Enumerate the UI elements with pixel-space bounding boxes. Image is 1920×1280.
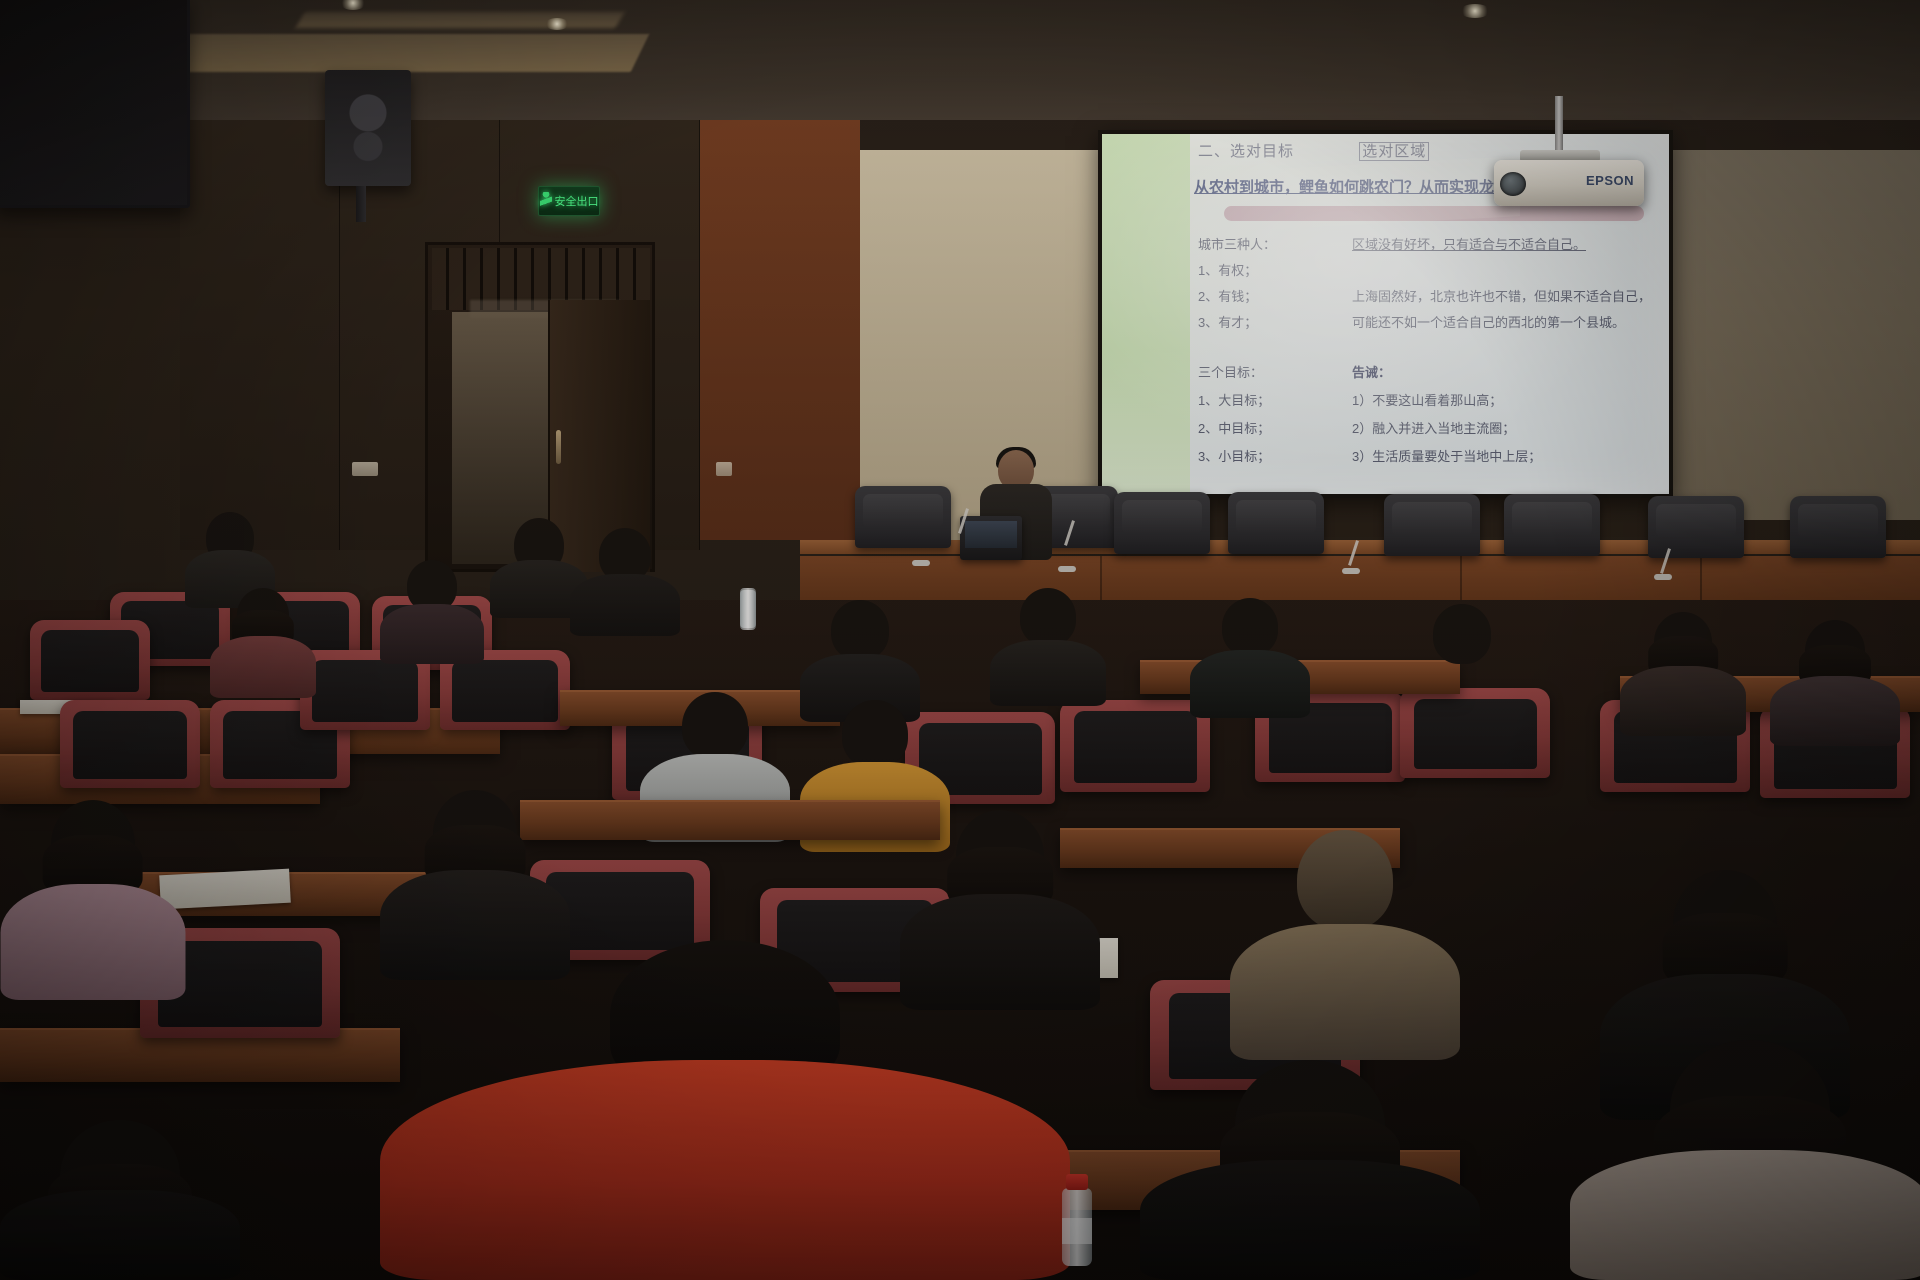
exit-sign-label: 安全出口	[555, 193, 599, 209]
slide-section1-note-3: 可能还不如一个适合自己的西北的第一个县城。	[1352, 312, 1625, 331]
audience-member	[1400, 604, 1524, 726]
audience-torso	[990, 640, 1106, 706]
audience-head	[1433, 604, 1491, 664]
audience-member	[210, 588, 316, 698]
slide-title-part1: 二、选对目标	[1198, 143, 1294, 160]
stage-chair[interactable]	[1648, 496, 1744, 558]
audience-torso	[1770, 676, 1900, 746]
audience-member	[1770, 620, 1900, 746]
slide-title-part2: 选对区域	[1359, 142, 1429, 161]
slide-section2-note-1: 1）不要这山看着那山高；	[1352, 390, 1502, 409]
audience-member	[570, 528, 680, 636]
ceiling-projector: EPSON	[1494, 160, 1644, 206]
audience-head	[1654, 612, 1712, 672]
audience-torso	[1190, 650, 1310, 718]
stage-chair[interactable]	[1384, 494, 1480, 556]
slide-section2-note-3: 3）生活质量要处于当地中上层；	[1352, 446, 1541, 465]
water-bottle[interactable]	[1062, 1188, 1092, 1266]
projector-ceiling-pole	[1555, 96, 1563, 156]
audience-head	[51, 800, 135, 888]
stage-chair[interactable]	[1790, 496, 1886, 558]
slide-section1-note-1: 区域没有好坏，只有适合与不适合自己。	[1352, 234, 1586, 253]
audience-torso	[210, 636, 316, 698]
audience-head	[842, 700, 908, 768]
audience-member-red-coat	[380, 940, 1070, 1280]
slide-section1-item-1: 1、有权；	[1198, 260, 1257, 279]
water-bottle[interactable]	[740, 590, 756, 630]
projector-brand-label: EPSON	[1586, 173, 1634, 188]
audience-desk	[520, 800, 940, 840]
slide-section2-right-label: 告诫：	[1352, 362, 1391, 381]
wall-wood-column	[700, 120, 860, 540]
slide-section2-note-2: 2）融入并进入当地主流圈；	[1352, 418, 1515, 437]
audience-torso	[1620, 666, 1746, 736]
audience-seat[interactable]	[1060, 700, 1210, 792]
stage-chair[interactable]	[1228, 492, 1324, 554]
presenter-laptop[interactable]	[960, 516, 1022, 560]
running-person-icon	[540, 192, 552, 210]
audience-torso	[0, 884, 185, 1000]
audience-head	[1020, 588, 1076, 646]
slide-section1-note-1-text: 区域没有好坏，只有适合与不适合自己。	[1352, 237, 1586, 252]
slide-section2-item-1: 1、大目标；	[1198, 390, 1270, 409]
wall-light-panel	[1673, 150, 1920, 520]
audience-member	[990, 588, 1106, 706]
audience-torso	[1230, 924, 1460, 1060]
microphone-base	[1058, 566, 1076, 572]
audience-torso	[0, 1190, 240, 1280]
audience-head	[237, 588, 289, 642]
ceiling-downlight	[1460, 4, 1490, 18]
audience-head	[956, 810, 1044, 902]
audience-member	[0, 1120, 240, 1280]
microphone-base	[912, 560, 930, 566]
audience-member	[0, 800, 185, 1000]
audience-member	[1190, 598, 1310, 718]
slide-section2-label: 三个目标：	[1198, 362, 1263, 381]
stage-chair[interactable]	[1504, 494, 1600, 556]
ceiling-speaker	[325, 70, 411, 186]
audience-member	[1140, 1060, 1480, 1280]
stage-chair[interactable]	[1114, 492, 1210, 554]
ceiling-cove-light	[161, 34, 650, 72]
audience-torso	[1140, 1160, 1480, 1280]
audience-head	[831, 600, 889, 660]
audience-head	[682, 692, 748, 760]
slide-section1-label: 城市三种人：	[1198, 234, 1276, 253]
slide-section1-item-3: 3、有才；	[1198, 312, 1257, 331]
microphone-base	[1342, 568, 1360, 574]
bottle-cap	[1066, 1174, 1088, 1190]
slide-divider-bar	[1224, 206, 1644, 221]
audience-seat[interactable]	[60, 700, 200, 788]
door-handle[interactable]	[556, 430, 561, 464]
slide-section1-item-2: 2、有钱；	[1198, 286, 1257, 305]
microphone-base	[1654, 574, 1672, 580]
projector-lens-icon	[1500, 172, 1526, 196]
audience-torso	[1570, 1150, 1920, 1280]
slide-section2-item-2: 2、中目标；	[1198, 418, 1270, 437]
slide-section1-note-2: 上海固然好，北京也许也不错，但如果不适合自己，	[1352, 286, 1651, 305]
audience-seat[interactable]	[30, 620, 150, 700]
audience-torso	[380, 1060, 1070, 1280]
wall-panel	[180, 120, 340, 550]
audience-torso	[570, 574, 680, 636]
ceiling-downlight	[545, 18, 569, 30]
wall-switch[interactable]	[716, 462, 732, 476]
audience-member	[380, 560, 484, 664]
emergency-exit-sign: 安全出口	[538, 186, 600, 216]
wall-display	[0, 0, 190, 208]
audience-head	[1673, 870, 1777, 978]
audience-torso	[380, 604, 484, 664]
audience-head	[433, 790, 517, 878]
audience-head	[1297, 830, 1393, 930]
audience-torso	[1400, 658, 1524, 726]
audience-head	[1222, 598, 1278, 656]
wall-switch[interactable]	[352, 462, 378, 476]
bottle-label	[1062, 1218, 1092, 1244]
audience-member	[1570, 1040, 1920, 1280]
stage-chair[interactable]	[855, 486, 951, 548]
lecture-hall-photo: 安全出口 二、选对目标 选对区域 从农村到城市，鲤鱼如何跳农门？从而实现龙门的飞…	[0, 0, 1920, 1280]
audience-member	[1230, 830, 1460, 1060]
speaker-mount	[356, 186, 366, 222]
slide-section2-item-3: 3、小目标；	[1198, 446, 1270, 465]
audience-head	[1805, 620, 1865, 682]
audience-member	[1620, 612, 1746, 736]
ceiling-cove-light-secondary	[295, 12, 624, 28]
